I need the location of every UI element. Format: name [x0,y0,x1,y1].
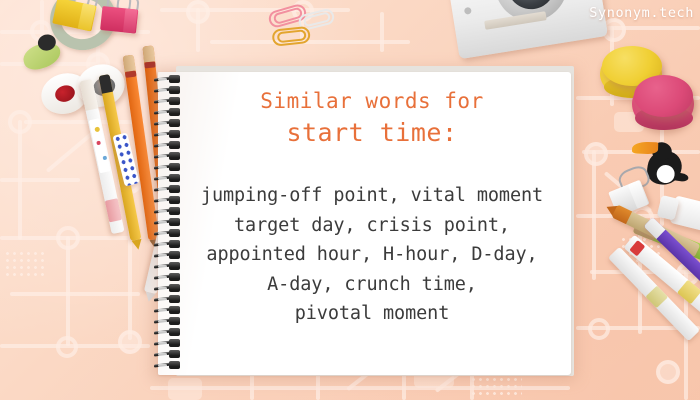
paper-clip-orange [271,26,306,42]
synonym-list: jumping-off point, vital moment target d… [186,181,558,329]
synonym-line: appointed hour, H-hour, D-day, [186,240,558,270]
synonym-line: pivotal moment [186,299,558,329]
synonym-line: target day, crisis point, [186,211,558,241]
brand-watermark: Synonym.tech [589,5,694,21]
page-content: Similar words for start time: jumping-of… [186,86,558,329]
page-title-prefix: Similar words for [186,86,558,116]
spiral-binding [152,76,186,372]
page-title-term: start time: [186,116,558,150]
binder-clip-pink [99,4,142,40]
synonym-line: jumping-off point, vital moment [186,181,558,211]
synonym-line: A-day, crunch time, [186,270,558,300]
screenshot-root: Similar words for start time: jumping-of… [0,0,700,400]
